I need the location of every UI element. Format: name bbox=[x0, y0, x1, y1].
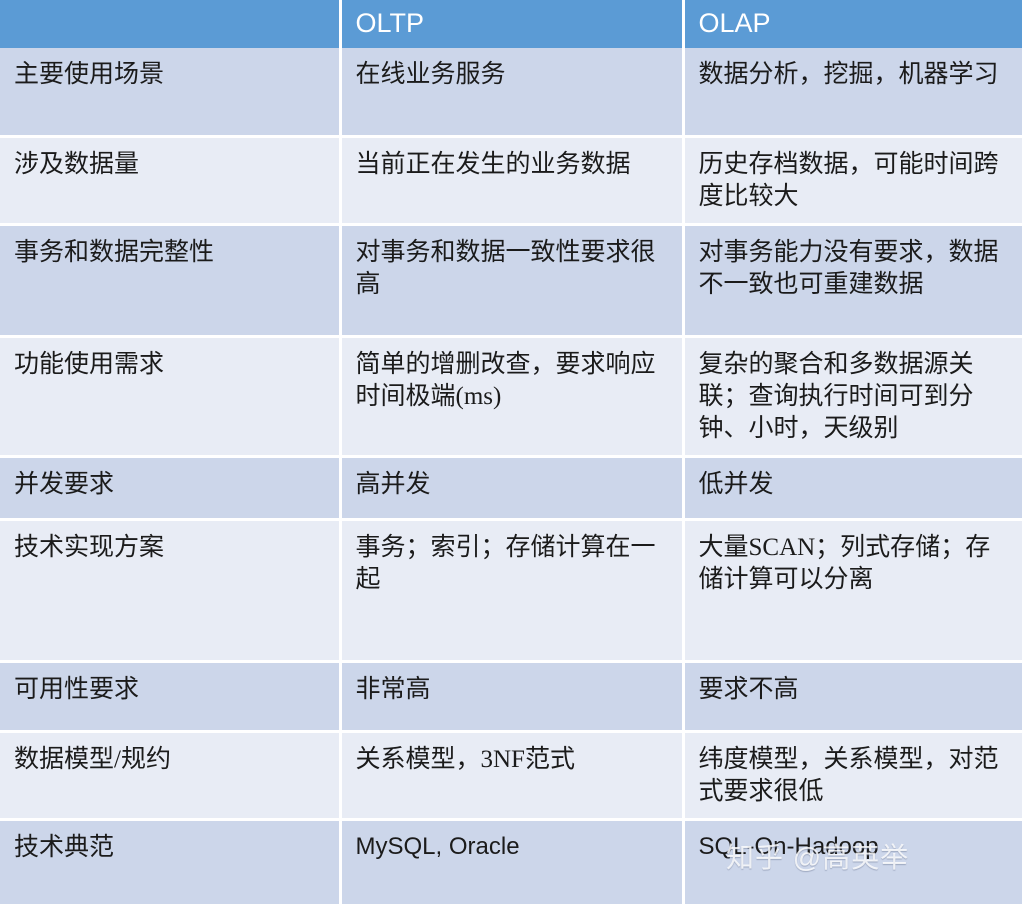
cell-oltp-reference-technology: MySQL, Oracle bbox=[340, 819, 683, 905]
table-row: 事务和数据完整性 对事务和数据一致性要求很高 对事务能力没有要求，数据不一致也可… bbox=[0, 224, 1022, 336]
row-label-data-volume: 涉及数据量 bbox=[0, 136, 340, 224]
column-header-oltp: OLTP bbox=[340, 0, 683, 48]
cell-oltp-feature-requirements: 简单的增删改查，要求响应时间极端(ms) bbox=[340, 336, 683, 456]
cell-olap-transaction-integrity: 对事务能力没有要求，数据不一致也可重建数据 bbox=[683, 224, 1022, 336]
row-label-transaction-integrity: 事务和数据完整性 bbox=[0, 224, 340, 336]
table-row: 功能使用需求 简单的增删改查，要求响应时间极端(ms) 复杂的聚合和多数据源关联… bbox=[0, 336, 1022, 456]
table-body: 主要使用场景 在线业务服务 数据分析，挖掘，机器学习 涉及数据量 当前正在发生的… bbox=[0, 48, 1022, 905]
cell-olap-data-model: 纬度模型，关系模型，对范式要求很低 bbox=[683, 731, 1022, 819]
row-label-reference-technology: 技术典范 bbox=[0, 819, 340, 905]
table-header-row: OLTP OLAP bbox=[0, 0, 1022, 48]
cell-oltp-data-model: 关系模型，3NF范式 bbox=[340, 731, 683, 819]
column-header-blank bbox=[0, 0, 340, 48]
cell-oltp-availability: 非常高 bbox=[340, 661, 683, 731]
table-row: 主要使用场景 在线业务服务 数据分析，挖掘，机器学习 bbox=[0, 48, 1022, 136]
cell-olap-concurrency: 低并发 bbox=[683, 456, 1022, 519]
column-header-olap: OLAP bbox=[683, 0, 1022, 48]
row-label-primary-use-case: 主要使用场景 bbox=[0, 48, 340, 136]
row-label-implementation: 技术实现方案 bbox=[0, 519, 340, 661]
oltp-olap-comparison-table: OLTP OLAP 主要使用场景 在线业务服务 数据分析，挖掘，机器学习 涉及数… bbox=[0, 0, 1022, 907]
cell-oltp-implementation: 事务；索引；存储计算在一起 bbox=[340, 519, 683, 661]
cell-olap-reference-technology: SQL-On-Hadoop bbox=[683, 819, 1022, 905]
cell-olap-primary-use-case: 数据分析，挖掘，机器学习 bbox=[683, 48, 1022, 136]
table-row: 技术实现方案 事务；索引；存储计算在一起 大量SCAN；列式存储；存储计算可以分… bbox=[0, 519, 1022, 661]
table-row: 数据模型/规约 关系模型，3NF范式 纬度模型，关系模型，对范式要求很低 bbox=[0, 731, 1022, 819]
cell-olap-feature-requirements: 复杂的聚合和多数据源关联；查询执行时间可到分钟、小时，天级别 bbox=[683, 336, 1022, 456]
table-row: 并发要求 高并发 低并发 bbox=[0, 456, 1022, 519]
row-label-data-model: 数据模型/规约 bbox=[0, 731, 340, 819]
row-label-availability: 可用性要求 bbox=[0, 661, 340, 731]
cell-oltp-primary-use-case: 在线业务服务 bbox=[340, 48, 683, 136]
cell-olap-availability: 要求不高 bbox=[683, 661, 1022, 731]
row-label-concurrency: 并发要求 bbox=[0, 456, 340, 519]
row-label-feature-requirements: 功能使用需求 bbox=[0, 336, 340, 456]
table-row: 技术典范 MySQL, Oracle SQL-On-Hadoop bbox=[0, 819, 1022, 905]
cell-oltp-data-volume: 当前正在发生的业务数据 bbox=[340, 136, 683, 224]
table-row: 涉及数据量 当前正在发生的业务数据 历史存档数据，可能时间跨度比较大 bbox=[0, 136, 1022, 224]
cell-oltp-transaction-integrity: 对事务和数据一致性要求很高 bbox=[340, 224, 683, 336]
cell-olap-implementation: 大量SCAN；列式存储；存储计算可以分离 bbox=[683, 519, 1022, 661]
cell-oltp-concurrency: 高并发 bbox=[340, 456, 683, 519]
table-header: OLTP OLAP bbox=[0, 0, 1022, 48]
cell-olap-data-volume: 历史存档数据，可能时间跨度比较大 bbox=[683, 136, 1022, 224]
table-row: 可用性要求 非常高 要求不高 bbox=[0, 661, 1022, 731]
